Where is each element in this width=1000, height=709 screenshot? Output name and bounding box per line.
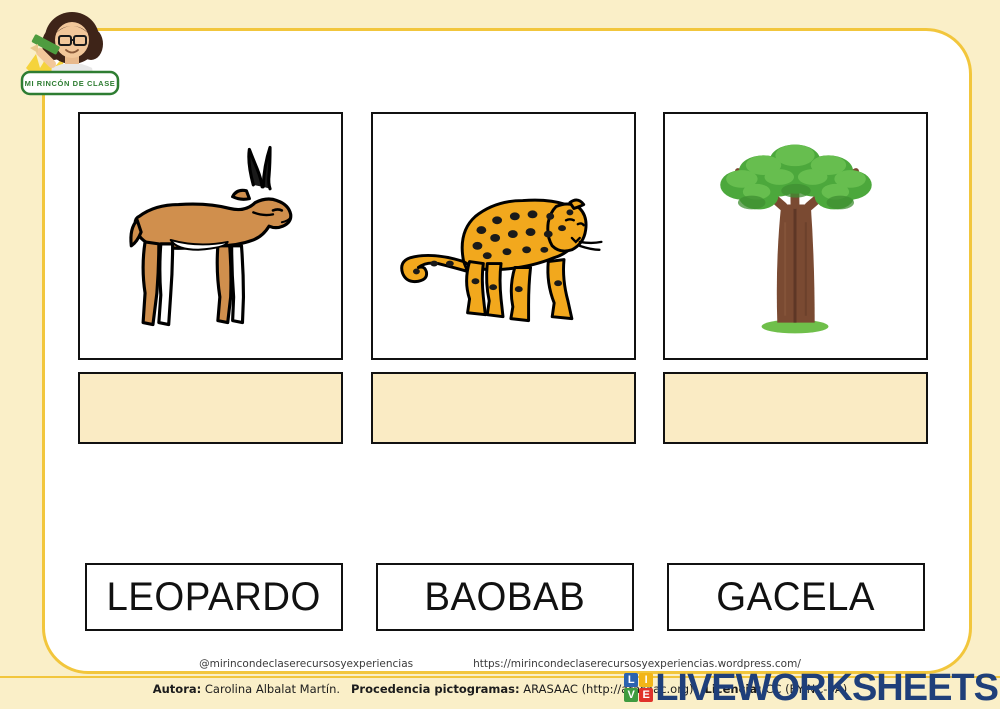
liveworksheets-wordmark: LIVEWORKSHEETS (655, 671, 998, 705)
mi-rincon-de-clase-logo: MI RINCÓN DE CLASE (14, 2, 126, 100)
liveworksheets-watermark: L I V E LIVEWORKSHEETS (624, 671, 998, 705)
word-option-baobab[interactable]: BAOBAB (376, 563, 634, 631)
lw-tile-l: L (624, 673, 638, 687)
brand-sign: MI RINCÓN DE CLASE (22, 72, 118, 94)
answer-input-1[interactable] (78, 372, 343, 444)
word-option-label: BAOBAB (425, 575, 586, 620)
svg-text:MI RINCÓN DE CLASE: MI RINCÓN DE CLASE (25, 79, 116, 88)
word-bank: LEOPARDO BAOBAB GACELA (85, 563, 925, 631)
exercise-item-1 (78, 112, 343, 457)
baobab-picture (663, 112, 928, 360)
social-handle: @mirincondeclaserecursosyexperiencias (199, 658, 413, 670)
word-option-label: LEOPARDO (107, 575, 321, 620)
author-name: Carolina Albalat Martín. (205, 682, 340, 696)
word-option-gacela[interactable]: GACELA (667, 563, 925, 631)
gazelle-picture (78, 112, 343, 360)
lw-tile-v: V (624, 688, 638, 702)
source-label: Procedencia pictogramas: (351, 682, 520, 696)
liveworksheets-tiles: L I V E (624, 673, 653, 702)
leopard-picture (371, 112, 636, 360)
word-option-leopardo[interactable]: LEOPARDO (85, 563, 343, 631)
worksheet-page: MI RINCÓN DE CLASE (0, 0, 1000, 707)
author-label: Autora: (153, 682, 202, 696)
answer-input-3[interactable] (663, 372, 928, 444)
lw-tile-i: I (639, 673, 653, 687)
exercise-item-3 (663, 112, 928, 457)
exercise-item-2 (371, 112, 636, 457)
word-option-label: GACELA (717, 575, 876, 620)
exercise-row (78, 112, 928, 457)
lw-tile-e: E (639, 688, 653, 702)
answer-input-2[interactable] (371, 372, 636, 444)
